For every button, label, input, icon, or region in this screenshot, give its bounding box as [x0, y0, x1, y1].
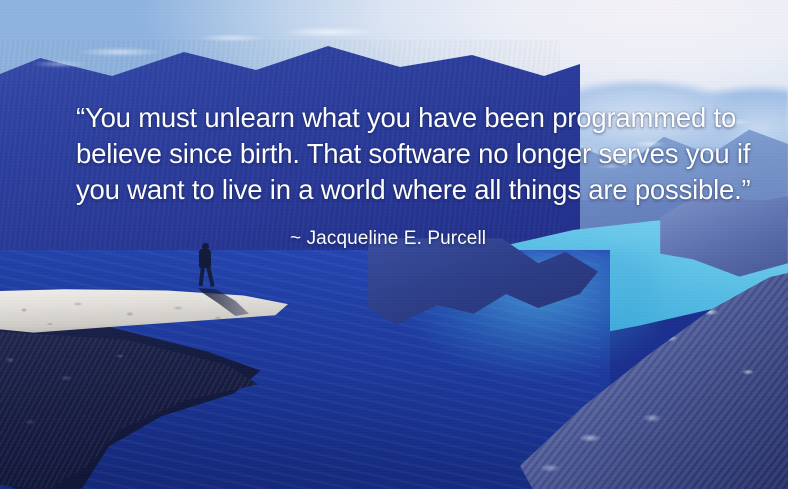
quote-attribution: ~ Jacqueline E. Purcell — [290, 228, 486, 250]
quote-image: “You must unlearn what you have been pro… — [0, 0, 788, 489]
quote-line-1: “You must unlearn what you have been pro… — [76, 100, 736, 136]
person — [195, 243, 217, 295]
person-leg-back — [206, 266, 215, 287]
quote-line-3: you want to live in a world where all th… — [76, 172, 736, 208]
quote-text: “You must unlearn what you have been pro… — [76, 100, 736, 208]
person-leg-front — [199, 266, 205, 286]
quote-line-2: believe since birth. That software no lo… — [76, 136, 736, 172]
